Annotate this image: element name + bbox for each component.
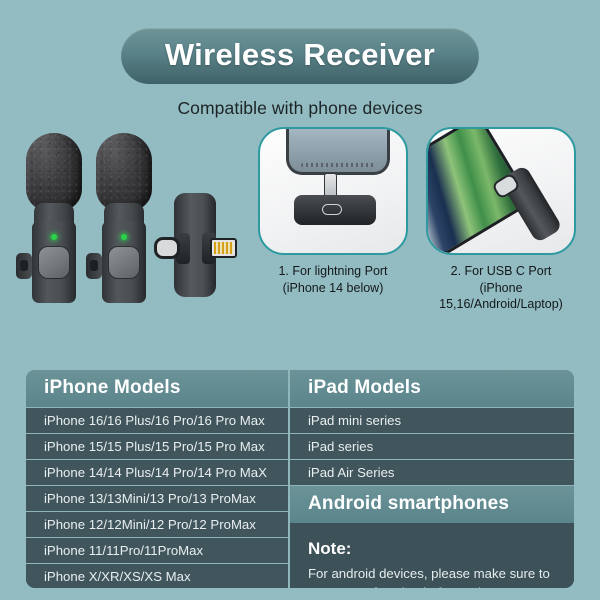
note-text: For android devices, please make sure to…: [308, 564, 556, 588]
panel-usb-c: 2. For USB C Port (iPhone 15,16/Android/…: [426, 127, 576, 313]
panel-usb-c-image: [426, 127, 576, 255]
microphone-clip-icon: [86, 253, 102, 279]
product-illustration: [8, 125, 256, 325]
table-row: iPhone 15/15 Plus/15 Pro/15 Pro Max: [26, 434, 288, 460]
lightning-connector-icon: [210, 238, 237, 258]
panel-lightning-caption-line1: 1. For lightning Port: [258, 263, 408, 280]
table-row: iPhone X/XR/XS/XS Max: [26, 564, 288, 588]
panel-lightning-caption: 1. For lightning Port (iPhone 14 below): [258, 263, 408, 296]
panel-usb-c-caption-line1: 2. For USB C Port: [426, 263, 576, 280]
panel-usb-c-caption-line2: (iPhone 15,16/Android/Laptop): [426, 280, 576, 313]
table-row: iPad Air Series: [290, 460, 574, 486]
panel-lightning: 1. For lightning Port (iPhone 14 below): [258, 127, 408, 313]
panel-usb-c-caption: 2. For USB C Port (iPhone 15,16/Android/…: [426, 263, 576, 313]
table-row: iPad mini series: [290, 407, 574, 434]
compatibility-table: iPhone Models iPhone 16/16 Plus/16 Pro/1…: [26, 370, 574, 588]
table-row: iPad series: [290, 434, 574, 460]
table-row: iPhone 16/16 Plus/16 Pro/16 Pro Max: [26, 407, 288, 434]
android-smartphones-header: Android smartphones: [290, 486, 574, 523]
ipad-android-column: iPad Models iPad mini seriesiPad seriesi…: [290, 370, 574, 588]
microphone-clip-icon: [16, 253, 32, 279]
status-led-icon: [51, 234, 57, 240]
microphone-power-button[interactable]: [38, 246, 70, 279]
note-title: Note:: [308, 539, 556, 559]
phone-bottom-illustration: [286, 127, 390, 175]
table-row: iPhone 14/14 Plus/14 Pro/14 Pro MaX: [26, 460, 288, 486]
product-and-panels-section: 1. For lightning Port (iPhone 14 below) …: [0, 125, 600, 357]
microphone-foam-windscreen-icon: [26, 133, 82, 211]
iphone-models-rows: iPhone 16/16 Plus/16 Pro/16 Pro MaxiPhon…: [26, 407, 288, 588]
microphone-power-button[interactable]: [108, 246, 140, 279]
port-panels: 1. For lightning Port (iPhone 14 below) …: [258, 127, 576, 313]
table-row: iPhone 11/11Pro/11ProMax: [26, 538, 288, 564]
iphone-models-column: iPhone Models iPhone 16/16 Plus/16 Pro/1…: [26, 370, 290, 588]
note-box: Note: For android devices, please make s…: [290, 523, 574, 588]
page-title: Wireless Receiver: [165, 37, 435, 72]
table-row: iPhone 12/12Mini/12 Pro/12 ProMax: [26, 512, 288, 538]
microphone-foam-windscreen-icon: [96, 133, 152, 211]
header: Wireless Receiver Compatible with phone …: [0, 0, 600, 119]
page-subtitle: Compatible with phone devices: [0, 98, 600, 119]
usb-c-connector-icon: [154, 237, 180, 259]
ipad-models-rows: iPad mini seriesiPad seriesiPad Air Seri…: [290, 407, 574, 486]
panel-lightning-image: [258, 127, 408, 255]
iphone-models-header: iPhone Models: [26, 370, 288, 407]
page-title-pill: Wireless Receiver: [121, 28, 479, 84]
ipad-models-header: iPad Models: [290, 370, 574, 407]
table-row: iPhone 13/13Mini/13 Pro/13 ProMax: [26, 486, 288, 512]
status-led-icon: [121, 234, 127, 240]
dongle-port-icon: [322, 204, 342, 215]
panel-lightning-caption-line2: (iPhone 14 below): [258, 280, 408, 297]
